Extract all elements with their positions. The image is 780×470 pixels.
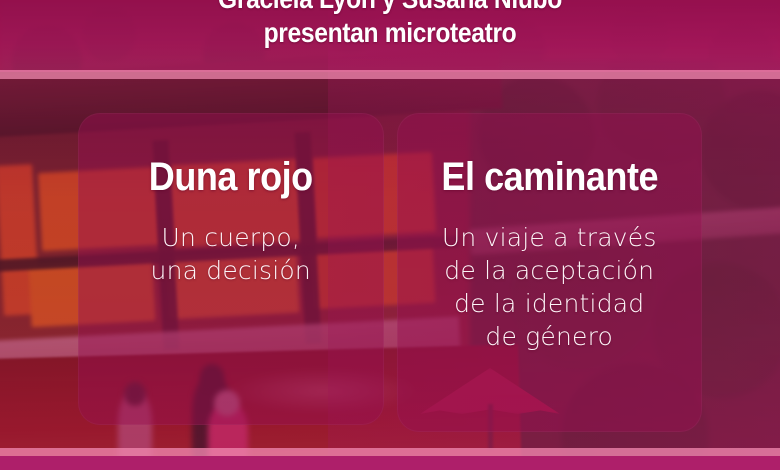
play-title: El caminante [424,155,674,199]
play-cards: Duna rojo Un cuerpo, una decisión El cam… [78,113,702,432]
header-title-line-2: presentan microteatro [47,16,733,50]
play-card-el-caminante[interactable]: El caminante Un viaje a través de la ace… [397,113,703,432]
play-subtitle-line: de género [411,320,689,353]
play-card-duna-rojo[interactable]: Duna rojo Un cuerpo, una decisión [78,113,384,425]
play-subtitle: Un cuerpo, una decisión [92,221,370,287]
header-title: Graciela Lyon y Susana Niubo presentan m… [47,0,733,50]
header-separator-band [0,70,780,79]
play-subtitle-line: Un cuerpo, [92,221,370,254]
play-subtitle-line: de la aceptación [411,254,689,287]
footer-separator-band [0,448,780,456]
poster: Graciela Lyon y Susana Niubo presentan m… [0,0,780,470]
footer-bar [0,456,780,470]
header-title-line-1: Graciela Lyon y Susana Niubo [47,0,733,16]
play-subtitle-line: de la identidad [411,287,689,320]
play-subtitle-line: Un viaje a través [411,221,689,254]
play-title: Duna rojo [106,155,356,199]
play-subtitle: Un viaje a través de la aceptación de la… [411,221,689,353]
play-subtitle-line: una decisión [92,254,370,287]
